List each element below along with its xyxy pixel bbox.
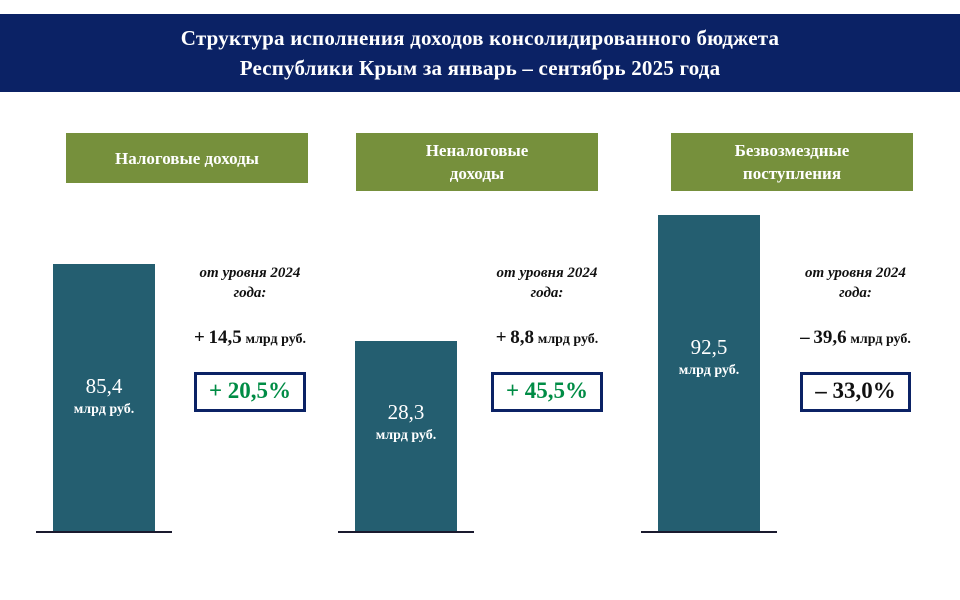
absolute-change-value: 8,8 xyxy=(510,327,534,348)
percent-change-label: + 45,5% xyxy=(506,377,588,405)
category-label-line-2: доходы xyxy=(450,164,504,183)
compare-heading-line-1: от уровня 2024 xyxy=(200,265,301,281)
annotation-compare-heading: от уровня 2024 года: xyxy=(462,263,632,303)
annotation-compare-heading: от уровня 2024 года: xyxy=(170,263,330,303)
absolute-change-unit: млрд руб. xyxy=(246,332,307,347)
category-header-gratuitous-receipts: Безвозмездные поступления xyxy=(671,133,913,191)
annotation-nontax-revenues: от уровня 2024 года: + 8,8 млрд руб. + 4… xyxy=(462,263,632,412)
percent-change-label: – 33,0% xyxy=(815,377,896,405)
bar-gratuitous-receipts: 92,5 млрд руб. xyxy=(658,215,760,531)
absolute-change-sign: + xyxy=(496,327,507,348)
compare-heading-line-2: года: xyxy=(234,285,267,301)
bar-unit-label: млрд руб. xyxy=(658,362,760,380)
percent-change-label: + 20,5% xyxy=(209,377,291,405)
slide-title-line-1: Структура исполнения доходов консолидиро… xyxy=(181,23,779,53)
bar-value-label: 92,5 xyxy=(658,335,760,360)
annotation-tax-revenues: от уровня 2024 года: + 14,5 млрд руб. + … xyxy=(170,263,330,412)
bar-baseline xyxy=(338,531,474,533)
percent-badge-wrap: – 33,0% xyxy=(768,372,943,412)
bar-unit-label: млрд руб. xyxy=(53,401,155,419)
annotation-gratuitous-receipts: от уровня 2024 года: – 39,6 млрд руб. – … xyxy=(768,263,943,412)
compare-heading-line-2: года: xyxy=(839,285,872,301)
absolute-change-value: 14,5 xyxy=(209,327,242,348)
annotation-absolute-change: – 39,6 млрд руб. xyxy=(768,327,943,349)
percent-badge-wrap: + 20,5% xyxy=(170,372,330,412)
percent-badge-wrap: + 45,5% xyxy=(462,372,632,412)
absolute-change-unit: млрд руб. xyxy=(850,332,911,347)
percent-change-badge: + 20,5% xyxy=(194,372,306,412)
category-header-label: Налоговые доходы xyxy=(115,147,259,170)
percent-change-badge: – 33,0% xyxy=(800,372,911,412)
category-label-line-1: Неналоговые xyxy=(426,141,529,160)
compare-heading-line-1: от уровня 2024 xyxy=(805,265,906,281)
annotation-absolute-change: + 8,8 млрд руб. xyxy=(462,327,632,349)
absolute-change-value: 39,6 xyxy=(813,327,846,348)
absolute-change-unit: млрд руб. xyxy=(538,332,599,347)
annotation-compare-heading: от уровня 2024 года: xyxy=(768,263,943,303)
slide-title-band: Структура исполнения доходов консолидиро… xyxy=(0,14,960,92)
slide-title-line-2: Республики Крым за январь – сентябрь 202… xyxy=(240,53,721,83)
bar-value-label: 85,4 xyxy=(53,374,155,399)
category-label-line-2: поступления xyxy=(743,164,841,183)
bar-baseline xyxy=(641,531,777,533)
compare-heading-line-1: от уровня 2024 xyxy=(497,265,598,281)
category-header-nontax-revenues: Неналоговые доходы xyxy=(356,133,598,191)
category-header-label: Безвозмездные поступления xyxy=(735,139,850,185)
slide-canvas: Структура исполнения доходов консолидиро… xyxy=(0,0,960,600)
bar-baseline xyxy=(36,531,172,533)
category-label-line-1: Налоговые доходы xyxy=(115,149,259,168)
annotation-absolute-change: + 14,5 млрд руб. xyxy=(170,327,330,349)
bar-tax-revenues: 85,4 млрд руб. xyxy=(53,264,155,531)
absolute-change-sign: – xyxy=(800,327,810,348)
bar-value-label: 28,3 xyxy=(355,400,457,425)
bar-unit-label: млрд руб. xyxy=(355,427,457,445)
compare-heading-line-2: года: xyxy=(531,285,564,301)
category-label-line-1: Безвозмездные xyxy=(735,141,850,160)
category-header-tax-revenues: Налоговые доходы xyxy=(66,133,308,183)
absolute-change-sign: + xyxy=(194,327,205,348)
bar-nontax-revenues: 28,3 млрд руб. xyxy=(355,341,457,531)
percent-change-badge: + 45,5% xyxy=(491,372,603,412)
category-header-label: Неналоговые доходы xyxy=(426,139,529,185)
